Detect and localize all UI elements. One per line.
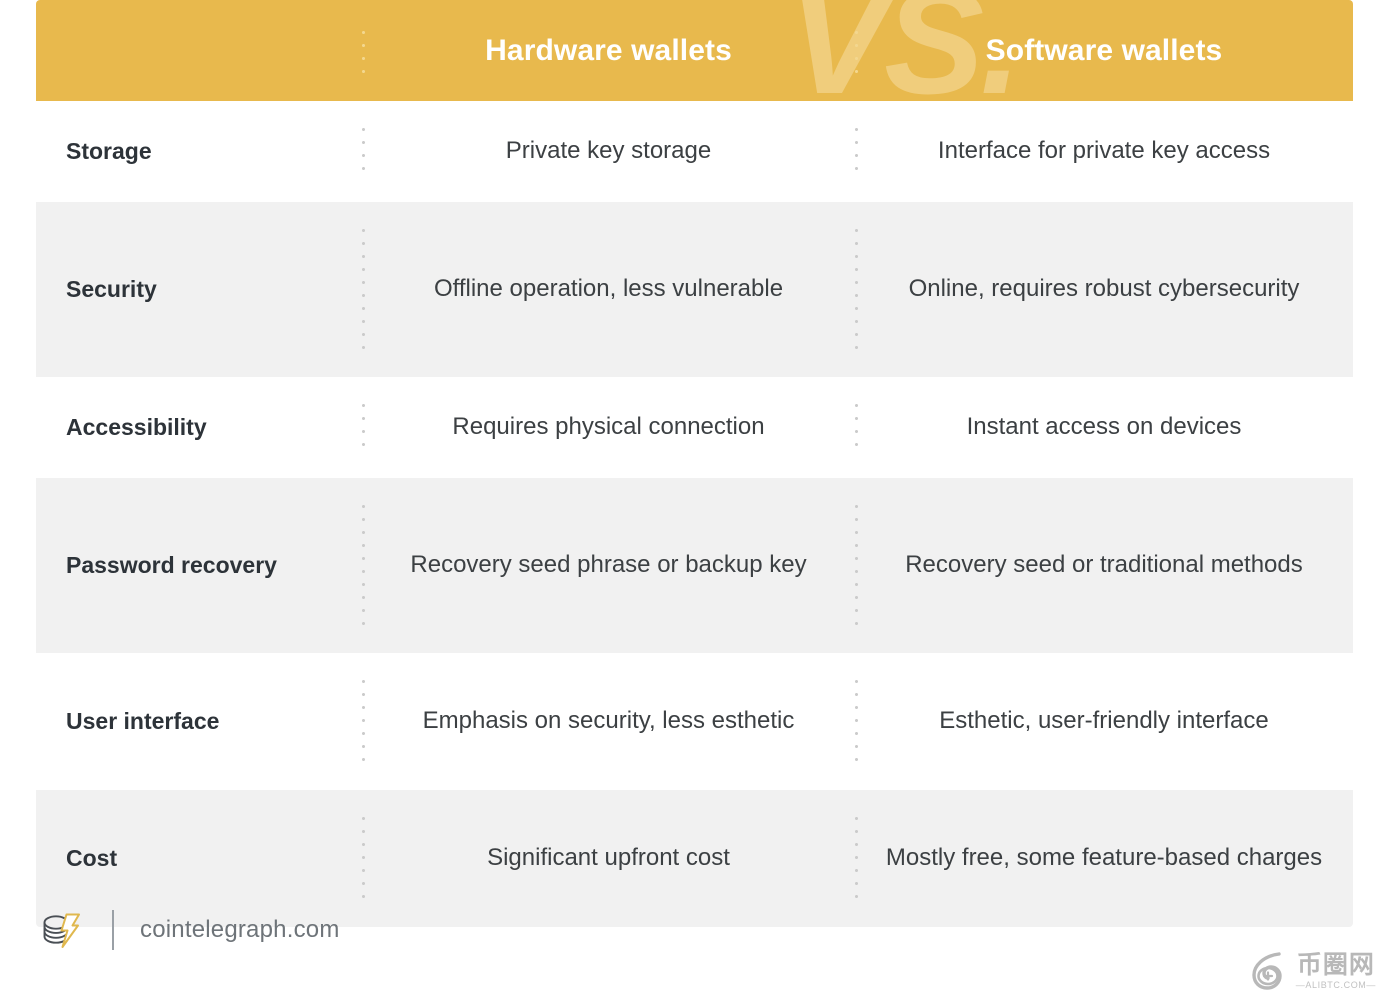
cell-software: Interface for private key access [855, 132, 1353, 170]
corner-watermark-chinese: 币圈网 [1297, 952, 1375, 977]
cell-hardware: Private key storage [362, 132, 855, 170]
corner-watermark-latin: —ALIBTC.COM— [1296, 980, 1376, 990]
header-software-wallets: Software wallets [855, 34, 1353, 68]
row-label: Storage [36, 133, 362, 170]
table-row: StoragePrivate key storageInterface for … [36, 101, 1353, 202]
row-label: Cost [36, 840, 362, 877]
cell-software: Esthetic, user-friendly interface [855, 702, 1353, 740]
corner-watermark: 币圈网 —ALIBTC.COM— [1249, 950, 1376, 992]
table-row: AccessibilityRequires physical connectio… [36, 377, 1353, 478]
table-body: StoragePrivate key storageInterface for … [36, 101, 1353, 927]
cell-software: Online, requires robust cybersecurity [855, 270, 1353, 308]
table-row: SecurityOffline operation, less vulnerab… [36, 202, 1353, 377]
cell-hardware: Emphasis on security, less esthetic [362, 702, 855, 740]
row-label: Accessibility [36, 409, 362, 446]
row-label: User interface [36, 703, 362, 740]
alibtc-circle-icon [1249, 950, 1293, 992]
header-hardware-wallets: Hardware wallets [362, 34, 855, 68]
cell-software: Mostly free, some feature-based charges [855, 839, 1353, 877]
footer-url[interactable]: cointelegraph.com [140, 916, 340, 944]
table-header-row: VS. Hardware wallets Software wallets [36, 0, 1353, 101]
cell-hardware: Significant upfront cost [362, 839, 855, 877]
row-label: Password recovery [36, 547, 362, 584]
table-row: Password recoveryRecovery seed phrase or… [36, 478, 1353, 653]
row-label: Security [36, 271, 362, 308]
footer-branding: cointelegraph.com [36, 903, 340, 957]
cointelegraph-coin-stack-bolt-icon [36, 906, 84, 954]
cell-hardware: Requires physical connection [362, 408, 855, 446]
cell-hardware: Recovery seed phrase or backup key [362, 546, 855, 584]
cell-hardware: Offline operation, less vulnerable [362, 270, 855, 308]
cell-software: Instant access on devices [855, 408, 1353, 446]
cell-software: Recovery seed or traditional methods [855, 546, 1353, 584]
comparison-table: VS. Hardware wallets Software wallets St… [36, 0, 1353, 927]
footer-separator [112, 910, 114, 950]
table-row: User interfaceEmphasis on security, less… [36, 653, 1353, 790]
